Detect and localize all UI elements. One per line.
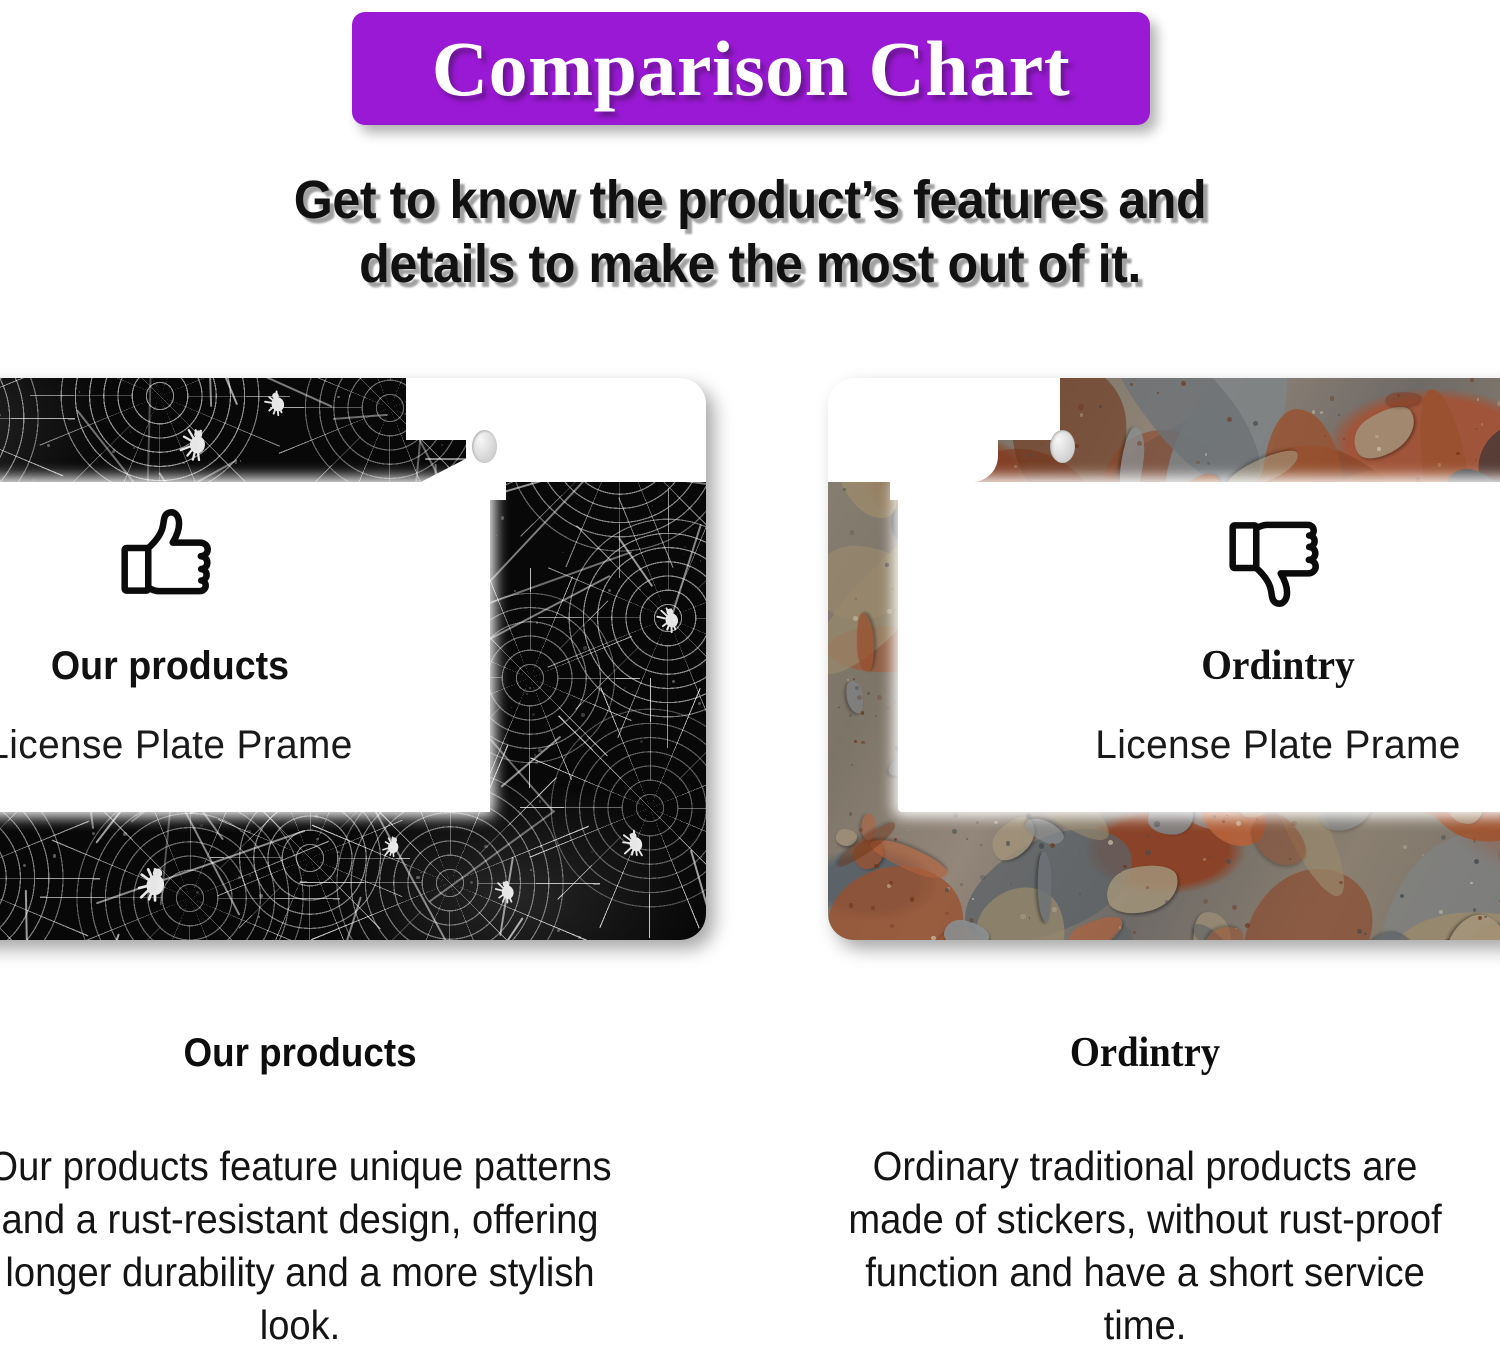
- ordinary-product-subtitle: License Plate Prame: [939, 722, 1500, 768]
- texture-speck: [952, 829, 958, 835]
- texture-speck: [953, 813, 958, 818]
- texture-speck: [315, 814, 318, 817]
- texture-speck: [1320, 411, 1323, 414]
- texture-speck: [130, 431, 131, 432]
- texture-speck: [980, 875, 985, 880]
- texture-speck: [1196, 461, 1200, 465]
- texture-speck: [1209, 856, 1211, 858]
- screw-hole-top: [1050, 430, 1075, 463]
- texture-speck: [861, 741, 865, 745]
- texture-speck: [945, 888, 949, 892]
- texture-speck: [1477, 398, 1480, 401]
- texture-speck: [259, 894, 263, 898]
- texture-speck: [591, 851, 593, 853]
- texture-speck: [861, 711, 865, 715]
- texture-speck: [966, 838, 968, 840]
- paint-flake: [1346, 397, 1424, 468]
- texture-speck: [1145, 850, 1151, 856]
- texture-speck: [484, 845, 487, 848]
- spider-icon: [380, 834, 407, 858]
- texture-speck: [532, 713, 535, 716]
- ordinary-summary-text: Ordinary traditional products are made o…: [824, 1140, 1466, 1352]
- texture-speck: [875, 715, 877, 717]
- texture-speck: [1203, 899, 1208, 904]
- texture-speck: [1154, 821, 1159, 826]
- texture-speck: [108, 438, 109, 439]
- texture-speck: [972, 898, 974, 900]
- texture-speck: [1470, 378, 1474, 382]
- summary-column-ours: Our products Our products feature unique…: [0, 1030, 645, 1352]
- texture-speck: [526, 693, 528, 695]
- texture-speck: [337, 851, 340, 854]
- ours-window-content: Our products License Plate Prame: [0, 500, 450, 768]
- texture-speck: [849, 812, 852, 815]
- texture-speck: [894, 702, 896, 704]
- texture-speck: [183, 462, 185, 464]
- texture-speck: [112, 450, 115, 453]
- texture-speck: [698, 702, 701, 705]
- texture-speck: [562, 552, 563, 553]
- texture-speck: [1473, 908, 1476, 911]
- texture-speck: [92, 832, 95, 835]
- texture-speck: [849, 714, 852, 717]
- thumbs-up-icon: [112, 500, 228, 616]
- texture-speck: [1445, 939, 1450, 940]
- texture-speck: [1253, 421, 1258, 426]
- texture-speck: [0, 414, 1, 416]
- texture-speck: [538, 749, 541, 752]
- texture-speck: [969, 918, 974, 923]
- texture-speck: [850, 530, 854, 534]
- texture-speck: [1232, 905, 1237, 910]
- texture-speck: [1222, 820, 1225, 823]
- texture-speck: [1256, 818, 1258, 820]
- texture-speck: [1226, 859, 1231, 864]
- texture-speck: [980, 844, 982, 846]
- texture-speck: [1375, 435, 1379, 439]
- texture-speck: [337, 396, 340, 399]
- subtitle-line-2: details to make the most out of it.: [53, 232, 1448, 296]
- texture-speck: [1123, 865, 1126, 868]
- texture-speck: [349, 395, 350, 396]
- texture-speck: [1078, 404, 1083, 409]
- texture-speck: [684, 546, 686, 548]
- texture-speck: [1207, 462, 1210, 465]
- texture-speck: [1020, 914, 1025, 919]
- texture-speck: [539, 800, 542, 803]
- texture-speck: [1403, 845, 1407, 849]
- texture-speck: [838, 707, 840, 709]
- texture-speck: [889, 881, 893, 885]
- texture-speck: [853, 678, 855, 680]
- texture-speck: [501, 516, 504, 519]
- thumbs-down-icon: [1220, 500, 1336, 616]
- product-frame-ours: Our products License Plate Prame: [0, 378, 706, 940]
- subtitle-line-1: Get to know the product’s features and: [53, 168, 1448, 232]
- texture-speck: [1338, 414, 1340, 416]
- texture-speck: [960, 883, 963, 886]
- texture-speck: [851, 764, 853, 766]
- texture-speck: [1330, 396, 1334, 400]
- texture-speck: [1291, 471, 1293, 473]
- texture-speck: [1026, 813, 1031, 818]
- texture-speck: [1475, 428, 1477, 430]
- comparison-chart-page: Comparison Chart Get to know the product…: [0, 0, 1500, 1364]
- texture-speck: [672, 680, 675, 683]
- texture-speck: [892, 588, 894, 590]
- texture-speck: [1079, 893, 1081, 895]
- page-title: Comparison Chart: [432, 30, 1071, 108]
- spider-icon: [132, 862, 178, 904]
- texture-speck: [1133, 931, 1136, 934]
- ours-product-subtitle: License Plate Prame: [0, 722, 442, 768]
- texture-speck: [1291, 821, 1297, 827]
- texture-speck: [1422, 854, 1424, 856]
- comparison-chart-badge: Comparison Chart: [352, 12, 1150, 125]
- texture-speck: [1146, 886, 1149, 889]
- texture-speck: [1146, 835, 1149, 838]
- texture-speck: [123, 832, 126, 835]
- ours-summary-title: Our products: [0, 1030, 617, 1076]
- ours-summary-text: Our products feature unique patterns and…: [0, 1140, 621, 1352]
- texture-speck: [624, 687, 626, 689]
- texture-speck: [931, 936, 936, 940]
- texture-speck: [1041, 443, 1042, 444]
- texture-speck: [581, 713, 584, 716]
- texture-speck: [867, 692, 870, 695]
- texture-speck: [249, 874, 251, 876]
- texture-speck: [1130, 383, 1133, 386]
- texture-speck: [196, 891, 199, 894]
- texture-speck: [1312, 410, 1315, 413]
- texture-speck: [441, 444, 443, 446]
- texture-speck: [1397, 394, 1400, 397]
- texture-speck: [908, 830, 909, 831]
- texture-speck: [200, 824, 203, 827]
- texture-speck: [557, 929, 560, 932]
- texture-speck: [976, 821, 979, 824]
- ours-product-name: Our products: [0, 644, 433, 688]
- texture-speck: [945, 912, 948, 915]
- texture-speck: [416, 876, 419, 879]
- texture-speck: [247, 830, 250, 833]
- texture-speck: [885, 563, 889, 567]
- texture-speck: [470, 881, 473, 884]
- texture-speck: [514, 937, 516, 939]
- texture-speck: [496, 535, 497, 536]
- texture-speck: [1364, 933, 1366, 935]
- texture-speck: [47, 444, 50, 447]
- texture-speck: [1039, 843, 1044, 848]
- texture-speck: [1478, 916, 1482, 920]
- screw-hole-top: [472, 430, 497, 463]
- texture-speck: [910, 897, 914, 901]
- ordinary-product-name: Ordintry: [949, 644, 1500, 688]
- texture-speck: [1223, 817, 1225, 819]
- texture-speck: [854, 740, 857, 743]
- texture-speck: [887, 609, 892, 614]
- texture-speck: [1377, 447, 1381, 451]
- texture-speck: [894, 838, 897, 841]
- texture-speck: [395, 813, 397, 815]
- texture-speck: [1475, 459, 1477, 461]
- texture-speck: [1052, 907, 1056, 911]
- paint-flake: [1385, 391, 1421, 407]
- texture-speck: [608, 589, 611, 592]
- texture-speck: [583, 646, 587, 650]
- texture-speck: [514, 590, 516, 592]
- summary-column-ordinary: Ordintry Ordinary traditional products a…: [800, 1030, 1490, 1352]
- texture-speck: [1165, 900, 1168, 903]
- texture-speck: [33, 479, 35, 481]
- texture-speck: [874, 864, 879, 869]
- texture-speck: [877, 695, 882, 700]
- texture-speck: [1339, 881, 1342, 884]
- ordinary-summary-title: Ordintry: [828, 1030, 1463, 1076]
- texture-speck: [534, 754, 536, 756]
- texture-speck: [855, 598, 857, 600]
- texture-speck: [1343, 438, 1345, 440]
- texture-speck: [1203, 858, 1206, 861]
- texture-speck: [530, 869, 532, 871]
- texture-speck: [258, 916, 260, 918]
- texture-speck: [849, 903, 853, 907]
- page-subtitle: Get to know the product’s features and d…: [53, 168, 1448, 296]
- spider-icon: [179, 427, 216, 459]
- texture-speck: [133, 447, 135, 449]
- texture-speck: [701, 856, 703, 858]
- texture-speck: [316, 838, 318, 840]
- texture-speck: [53, 854, 56, 857]
- texture-speck: [887, 707, 889, 709]
- ordinary-window-content: Ordintry License Plate Prame: [928, 500, 1500, 768]
- texture-speck: [1481, 423, 1483, 425]
- texture-speck: [1006, 841, 1010, 845]
- product-frame-ordinary: Ordintry License Plate Prame: [828, 378, 1500, 940]
- texture-speck: [853, 616, 857, 620]
- texture-speck: [994, 821, 997, 824]
